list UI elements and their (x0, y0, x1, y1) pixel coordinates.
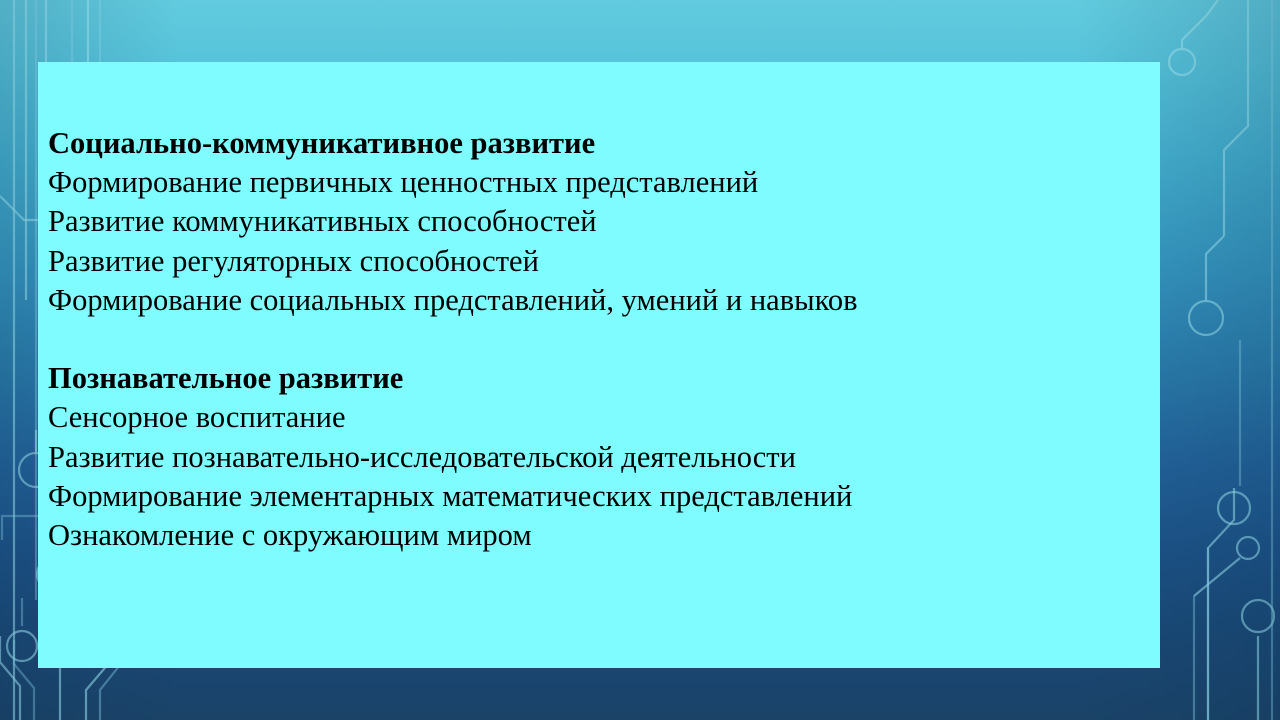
block-2-line-4: Ознакомление с окружающим миром (48, 516, 1138, 555)
block-1-line-3: Развитие регуляторных способностей (48, 242, 1138, 281)
block-1-line-2: Развитие коммуникативных способностей (48, 202, 1138, 241)
block-1-heading: Социально-коммуникативное развитие (48, 124, 1138, 163)
presentation-slide: Социально-коммуникативное развитие Форми… (0, 0, 1280, 720)
block-2-heading: Познавательное развитие (48, 359, 1138, 398)
block-1-line-4: Формирование социальных представлений, у… (48, 281, 1138, 320)
content-text-body: Социально-коммуникативное развитие Форми… (48, 124, 1138, 555)
block-2-line-2: Развитие познавательно-исследовательской… (48, 438, 1138, 477)
content-panel: Социально-коммуникативное развитие Форми… (38, 62, 1160, 668)
block-2-line-1: Сенсорное воспитание (48, 398, 1138, 437)
paragraph-spacer (48, 320, 1138, 359)
block-2-line-3: Формирование элементарных математических… (48, 477, 1138, 516)
block-1-line-1: Формирование первичных ценностных предст… (48, 163, 1138, 202)
